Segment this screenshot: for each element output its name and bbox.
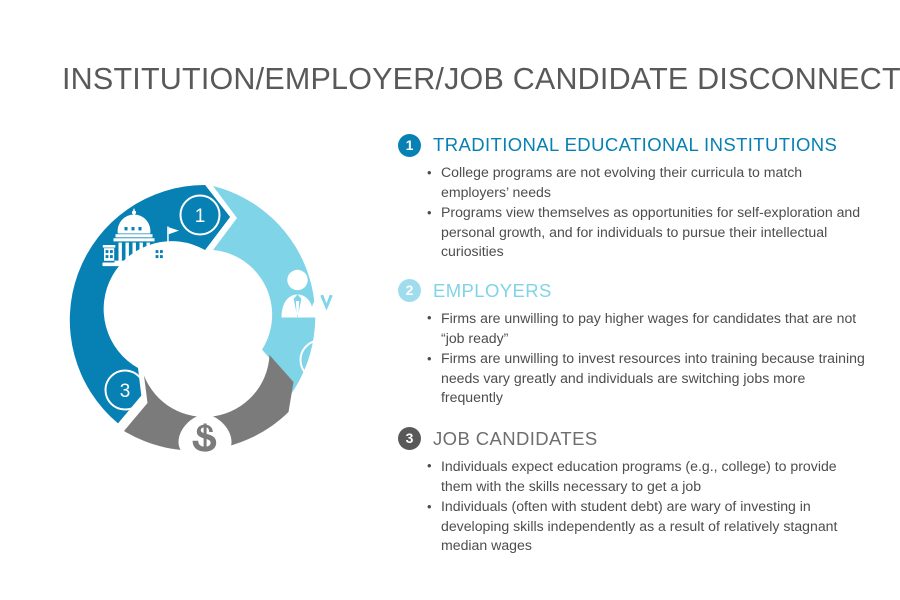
list-item: Firms are unwilling to pay higher wages …	[426, 309, 868, 348]
svg-text:2: 2	[315, 351, 326, 372]
money-bag-icon	[179, 401, 232, 461]
section-1-header[interactable]: 1 TRADITIONAL EDUCATIONAL INSTITUTIONS	[398, 130, 868, 160]
section-traditional-educational-institutions: 1 TRADITIONAL EDUCATIONAL INSTITUTIONS C…	[398, 130, 868, 262]
slide-canvas: INSTITUTION/EMPLOYER/JOB CANDIDATE DISCO…	[0, 0, 900, 600]
list-item: Programs view themselves as opportunitie…	[426, 203, 868, 262]
section-1-badge: 1	[398, 134, 421, 157]
section-3-badge: 3	[398, 427, 421, 450]
section-job-candidates: 3 JOB CANDIDATES Individuals expect educ…	[398, 424, 868, 556]
section-2-badge: 2	[398, 279, 421, 302]
list-item: Individuals expect education programs (e…	[426, 457, 868, 496]
page-title: INSTITUTION/EMPLOYER/JOB CANDIDATE DISCO…	[62, 62, 852, 97]
section-3-title: JOB CANDIDATES	[433, 428, 598, 450]
cycle-diagram: 1 2 3	[55, 165, 355, 480]
cycle-diagram-svg: 1 2 3	[55, 165, 355, 480]
section-1-bullets: College programs are not evolving their …	[426, 163, 868, 262]
section-1-title: TRADITIONAL EDUCATIONAL INSTITUTIONS	[433, 134, 837, 156]
sections-column: 1 TRADITIONAL EDUCATIONAL INSTITUTIONS C…	[398, 130, 868, 557]
section-2-bullets: Firms are unwilling to pay higher wages …	[426, 309, 868, 408]
svg-text:3: 3	[120, 381, 131, 402]
section-2-title: EMPLOYERS	[433, 280, 552, 302]
section-3-header[interactable]: 3 JOB CANDIDATES	[398, 424, 868, 454]
list-item: Firms are unwilling to invest resources …	[426, 349, 868, 408]
list-item: College programs are not evolving their …	[426, 163, 868, 202]
svg-text:1: 1	[195, 206, 206, 227]
list-item: Individuals (often with student debt) ar…	[426, 497, 868, 556]
section-3-bullets: Individuals expect education programs (e…	[426, 457, 868, 556]
section-2-header[interactable]: 2 EMPLOYERS	[398, 276, 868, 306]
section-employers: 2 EMPLOYERS Firms are unwilling to pay h…	[398, 276, 868, 408]
